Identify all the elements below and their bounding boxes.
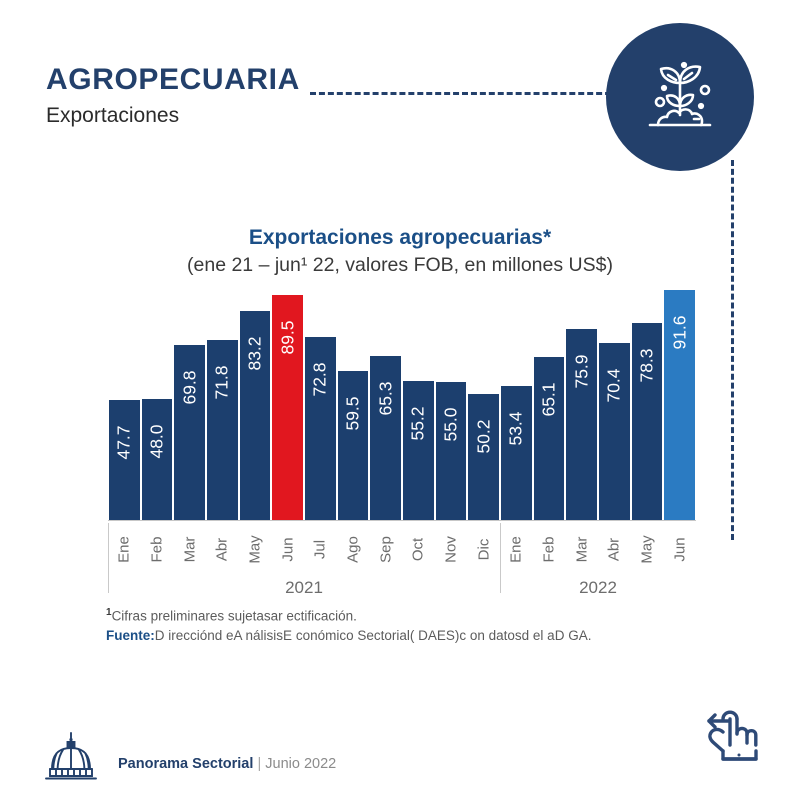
month-label: Sep	[377, 528, 394, 572]
bar-cell: 47.7	[108, 290, 141, 520]
bar-cell: 55.0	[435, 290, 468, 520]
month-label: May	[639, 528, 656, 572]
bar[interactable]: 53.4	[500, 386, 533, 520]
bar-cell: 53.4	[500, 290, 533, 520]
bar-chart: 47.748.069.871.883.289.572.859.565.355.2…	[108, 290, 696, 520]
footnote-text: Cifras preliminares sujetasar ectificaci…	[112, 609, 357, 624]
bars-container: 47.748.069.871.883.289.572.859.565.355.2…	[108, 290, 696, 520]
bar[interactable]: 83.2	[239, 311, 272, 520]
month-tick: Oct	[402, 523, 435, 575]
bar-value-label: 59.5	[343, 389, 364, 437]
bar-cell: 72.8	[304, 290, 337, 520]
bar-cell: 65.3	[369, 290, 402, 520]
month-tick: Ago	[337, 523, 370, 575]
bar-cell: 78.3	[631, 290, 664, 520]
month-label: May	[247, 528, 264, 572]
bar-value-label: 65.1	[539, 375, 560, 423]
month-tick: Sep	[369, 523, 402, 575]
bar[interactable]: 69.8	[173, 345, 206, 520]
bar[interactable]: 47.7	[108, 400, 141, 520]
capitol-dome-icon	[42, 731, 100, 786]
month-label: Ene	[116, 528, 133, 572]
month-tick: Abr	[598, 523, 631, 575]
page-title: AGROPECUARIA	[46, 64, 300, 96]
bar[interactable]: 78.3	[631, 323, 664, 520]
bar-value-label: 50.2	[473, 412, 494, 460]
source-label: Fuente:	[106, 628, 155, 643]
month-label: Ago	[345, 528, 362, 572]
month-tick: Abr	[206, 523, 239, 575]
bar-cell: 89.5	[271, 290, 304, 520]
bar[interactable]: 55.0	[435, 382, 468, 520]
month-tick: Jun	[663, 523, 696, 575]
month-tick: Jun	[271, 523, 304, 575]
month-label: Nov	[443, 528, 460, 572]
bar-cell: 48.0	[141, 290, 174, 520]
hand-pointer-swipe-left-icon[interactable]	[692, 702, 764, 779]
month-tick: Jul	[304, 523, 337, 575]
month-label: Jun	[671, 528, 688, 572]
month-tick: Ene	[500, 523, 533, 575]
month-tick: May	[239, 523, 272, 575]
bar-value-label: 83.2	[245, 330, 266, 378]
bar[interactable]: 55.2	[402, 381, 435, 520]
plant-sprout-icon	[632, 49, 728, 145]
infographic-page: AGROPECUARIA Exportaciones	[0, 0, 800, 800]
footer-separator: |	[257, 756, 261, 772]
bar-cell: 71.8	[206, 290, 239, 520]
bar-value-label: 69.8	[179, 363, 200, 411]
bar-value-label: 72.8	[310, 356, 331, 404]
month-tick: Mar	[173, 523, 206, 575]
footnote-preliminary: 1Cifras preliminares sujetasar ectificac…	[106, 606, 726, 626]
page-subtitle: Exportaciones	[46, 104, 300, 127]
bar-cell: 50.2	[467, 290, 500, 520]
month-label: Abr	[606, 528, 623, 572]
chart-title: Exportaciones agropecuarias*	[0, 226, 800, 250]
bar[interactable]: 70.4	[598, 343, 631, 520]
bar-value-label: 65.3	[375, 375, 396, 423]
footer-brand: Panorama Sectorial	[118, 756, 253, 772]
footer-caption: Panorama Sectorial | Junio 2022	[118, 756, 336, 772]
footnote-source: Fuente:D irecciónd eA nálisisE conómico …	[106, 626, 726, 646]
bar-value-label: 48.0	[147, 418, 168, 466]
bar[interactable]: 75.9	[565, 329, 598, 520]
bar[interactable]: 72.8	[304, 337, 337, 520]
bar-cell: 59.5	[337, 290, 370, 520]
bar[interactable]: 48.0	[141, 399, 174, 520]
bar-cell: 65.1	[533, 290, 566, 520]
footer-period: Junio 2022	[265, 756, 336, 772]
month-label: Mar	[573, 528, 590, 572]
bar-value-label: 75.9	[571, 348, 592, 396]
x-axis-month-labels: EneFebMarAbrMayJunJulAgoSepOctNovDicEneF…	[108, 523, 696, 575]
bar-value-label: 55.0	[441, 400, 462, 448]
bar-cell: 91.6	[663, 290, 696, 520]
bar[interactable]: 65.3	[369, 356, 402, 520]
bar[interactable]: 59.5	[337, 371, 370, 520]
bar-cell: 70.4	[598, 290, 631, 520]
bar[interactable]: 91.6	[663, 290, 696, 520]
year-group-label: 2021	[108, 578, 500, 598]
bar[interactable]: 71.8	[206, 340, 239, 520]
sector-logo-circle	[606, 23, 754, 171]
month-tick: Feb	[141, 523, 174, 575]
bar-value-label: 70.4	[604, 362, 625, 410]
month-label: Ene	[508, 528, 525, 572]
month-tick: Dic	[467, 523, 500, 575]
bar-value-label: 55.2	[408, 400, 429, 448]
month-label: Jul	[312, 528, 329, 572]
bar[interactable]: 89.5	[271, 295, 304, 520]
month-tick: Mar	[565, 523, 598, 575]
bar-value-label: 78.3	[637, 342, 658, 390]
bar[interactable]: 65.1	[533, 357, 566, 520]
bar-cell: 69.8	[173, 290, 206, 520]
month-tick: Nov	[435, 523, 468, 575]
bar-value-label: 71.8	[212, 358, 233, 406]
footnotes: 1Cifras preliminares sujetasar ectificac…	[106, 606, 726, 646]
bar-value-label: 47.7	[114, 419, 135, 467]
header-title-block: AGROPECUARIA Exportaciones	[46, 64, 300, 127]
bar-value-label: 91.6	[669, 309, 690, 357]
month-label: Abr	[214, 528, 231, 572]
month-tick: May	[631, 523, 664, 575]
month-label: Feb	[541, 528, 558, 572]
bar-cell: 75.9	[565, 290, 598, 520]
month-label: Jun	[279, 528, 296, 572]
month-label: Oct	[410, 528, 427, 572]
bar-value-label: 89.5	[277, 314, 298, 362]
month-label: Mar	[181, 528, 198, 572]
year-group-label: 2022	[500, 578, 696, 598]
bar-cell: 83.2	[239, 290, 272, 520]
source-text: D irecciónd eA nálisisE conómico Sectori…	[155, 628, 592, 643]
bar-cell: 55.2	[402, 290, 435, 520]
month-tick: Feb	[533, 523, 566, 575]
chart-subtitle: (ene 21 – jun¹ 22, valores FOB, en millo…	[0, 254, 800, 277]
month-label: Dic	[475, 528, 492, 572]
side-dashed-connector	[731, 160, 734, 540]
header-dashed-connector	[310, 92, 620, 95]
month-tick: Ene	[108, 523, 141, 575]
x-axis-year-labels: 20212022	[108, 578, 696, 602]
chart-baseline	[108, 520, 696, 521]
bar-value-label: 53.4	[506, 404, 527, 452]
bar[interactable]: 50.2	[467, 394, 500, 520]
month-label: Feb	[149, 528, 166, 572]
